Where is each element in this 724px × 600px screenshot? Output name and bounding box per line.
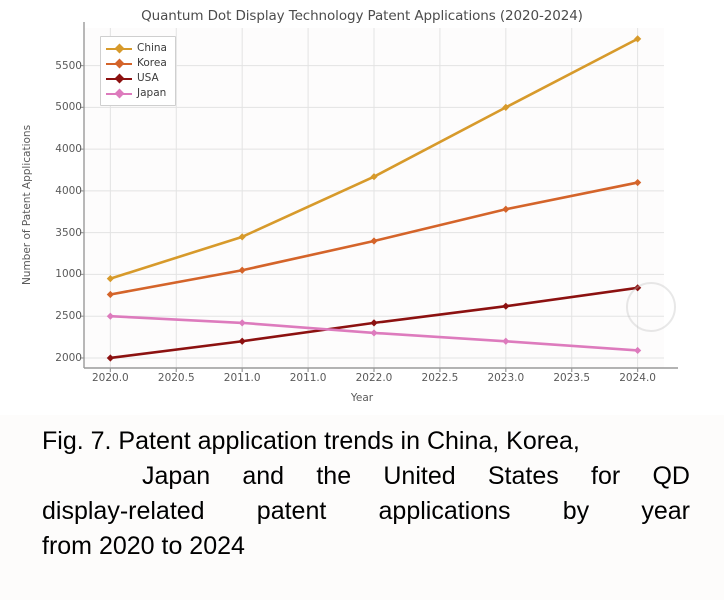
y-axis-tick-label: 5500 (22, 60, 82, 72)
legend-item-china[interactable]: China (106, 41, 167, 56)
caption-line: from 2020 to 2024 (42, 529, 690, 564)
legend-item-korea[interactable]: Korea (106, 56, 167, 71)
x-axis-tick-label: 2020.5 (158, 372, 195, 384)
y-axis-tick-label: 3500 (22, 227, 82, 239)
x-axis-tick-label: 2024.0 (619, 372, 656, 384)
x-axis-tick-label: 2011.0 (290, 372, 327, 384)
x-axis-tick-label: 2020.0 (92, 372, 129, 384)
x-axis-label: Year (0, 392, 724, 404)
x-axis-tick-label: 2011.0 (224, 372, 261, 384)
legend-marker-icon (106, 43, 132, 55)
figure-container: Quantum Dot Display Technology Patent Ap… (0, 0, 724, 600)
figure-caption: Fig. 7. Patent application trends in Chi… (42, 424, 690, 564)
y-axis-tick-label: 4000 (22, 143, 82, 155)
legend-item-label: USA (137, 71, 159, 86)
chart-plot-region: Quantum Dot Display Technology Patent Ap… (0, 0, 724, 415)
legend-marker-icon (106, 88, 132, 100)
x-axis-tick-label: 2023.0 (487, 372, 524, 384)
y-axis-tick-label: 2500 (22, 310, 82, 322)
y-axis-ticks: 55005000400040003500100025002000 (22, 0, 82, 415)
legend-item-usa[interactable]: USA (106, 71, 167, 86)
x-axis-tick-label: 2022.5 (422, 372, 459, 384)
y-axis-tick-label: 5000 (22, 101, 82, 113)
legend-marker-icon (106, 73, 132, 85)
x-axis-tick-label: 2023.5 (553, 372, 590, 384)
legend-item-japan[interactable]: Japan (106, 86, 167, 101)
chart-legend: ChinaKoreaUSAJapan (100, 36, 176, 106)
caption-line: display-relatedpatentapplicationsbyyear (42, 494, 690, 529)
legend-item-label: China (137, 41, 167, 56)
caption-line: Fig. 7. Patent application trends in Chi… (42, 424, 690, 459)
caption-line: JapanandtheUnitedStatesforQD (42, 459, 690, 494)
legend-marker-icon (106, 58, 132, 70)
chart-title: Quantum Dot Display Technology Patent Ap… (0, 8, 724, 24)
y-axis-tick-label: 4000 (22, 185, 82, 197)
y-axis-tick-label: 2000 (22, 352, 82, 364)
y-axis-tick-label: 1000 (22, 268, 82, 280)
legend-item-label: Korea (137, 56, 167, 71)
legend-item-label: Japan (137, 86, 166, 101)
x-axis-tick-label: 2022.0 (356, 372, 393, 384)
